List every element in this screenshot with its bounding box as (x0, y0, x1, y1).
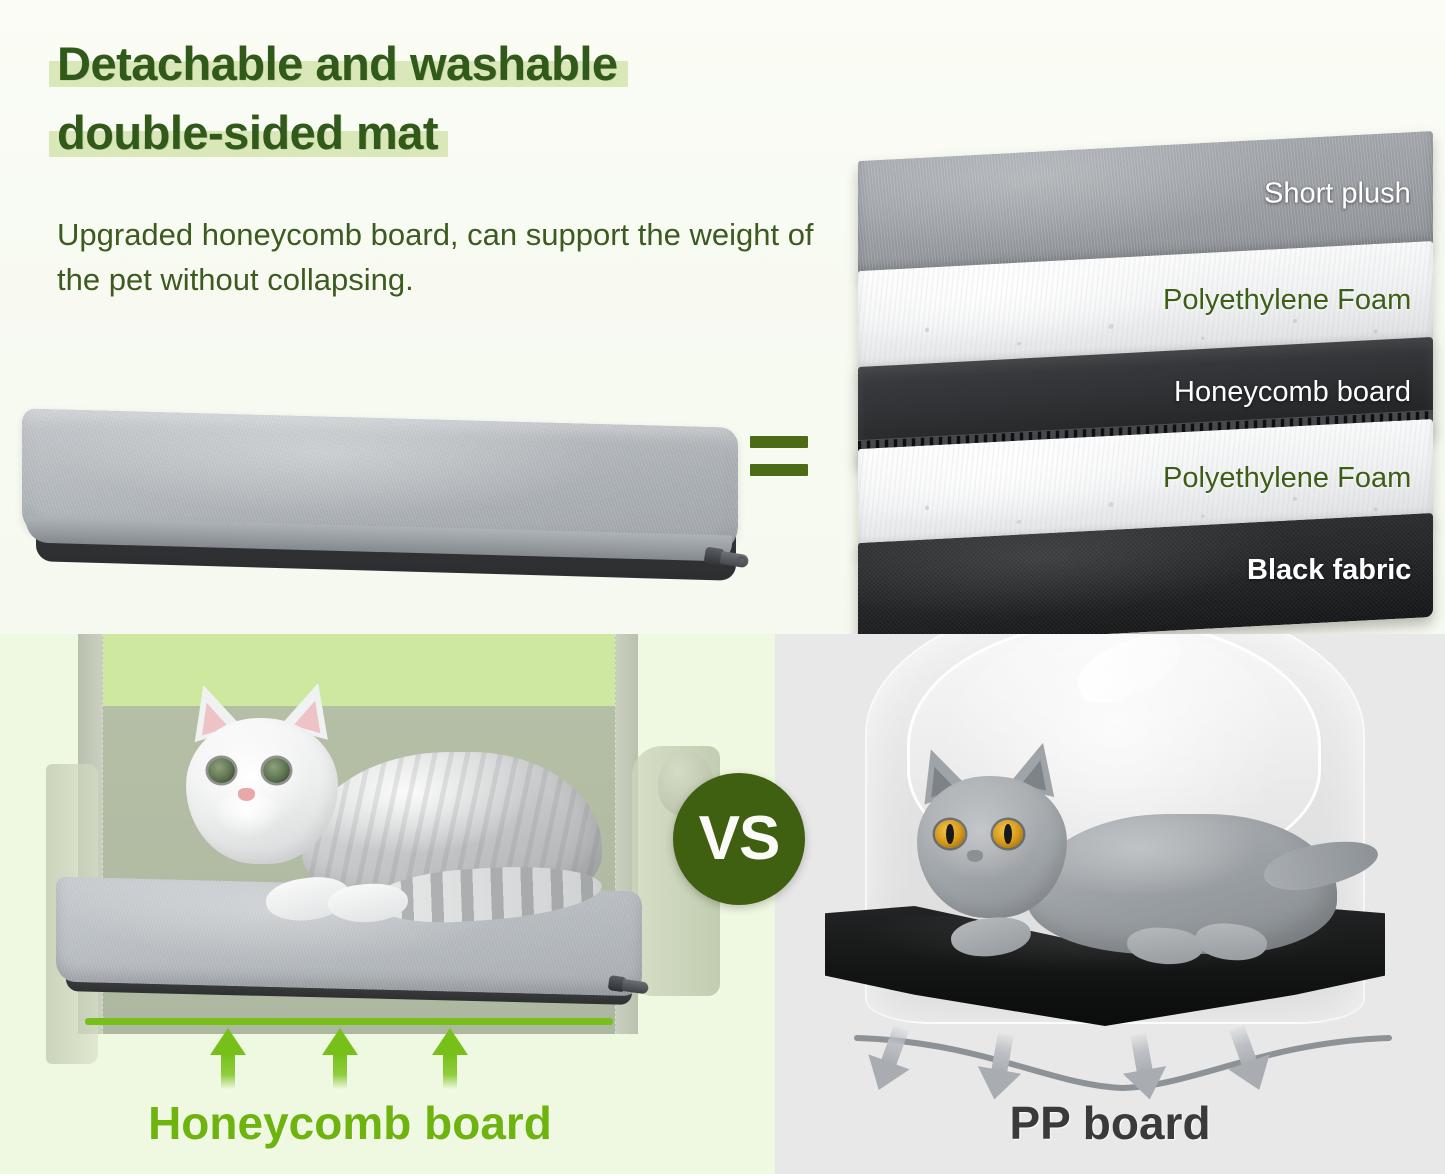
title-line-1: Detachable and washable (57, 36, 618, 91)
heading-block: Detachable and washable double-sided mat (57, 36, 857, 167)
title-text-2: double-sided mat (57, 106, 438, 159)
up-arrow-icon-2 (322, 1028, 358, 1088)
up-arrow-icon-1 (210, 1028, 246, 1088)
top-section: Detachable and washable double-sided mat… (0, 0, 1445, 634)
cat-nose (967, 850, 983, 862)
cat-nose (238, 788, 255, 801)
cat-head (917, 776, 1067, 918)
arrow-head (210, 1028, 246, 1055)
layer-label-foam-top: Polyethylene Foam (1163, 284, 1411, 317)
cat-eye-right (263, 758, 290, 783)
gray-shorthair-cat (895, 742, 1335, 992)
cat-pupil (946, 824, 954, 844)
layer-label-short-plush: Short plush (1264, 177, 1411, 210)
silver-tabby-cat (150, 682, 620, 942)
zipper-tab (622, 979, 649, 995)
label-honeycomb-board: Honeycomb board (0, 1096, 700, 1150)
up-arrow-icon-3 (432, 1028, 468, 1088)
equals-bar-bottom (750, 464, 808, 476)
cat-head (186, 718, 338, 864)
vs-badge: VS (673, 773, 805, 905)
infographic-page: Detachable and washable double-sided mat… (0, 0, 1445, 1174)
equals-bar-top (750, 436, 808, 448)
arrow-tail (443, 1053, 457, 1089)
support-line-flat (85, 1018, 613, 1025)
cat-eye-left (935, 820, 965, 848)
layer-label-black-fabric: Black fabric (1247, 554, 1411, 587)
subtitle-text: Upgraded honeycomb board, can support th… (57, 212, 817, 303)
label-pp-board: PP board (775, 1096, 1445, 1150)
vs-badge-label: VS (699, 808, 780, 870)
cat-pupil (1004, 824, 1012, 844)
layer-label-foam-bottom: Polyethylene Foam (1163, 462, 1411, 495)
comparison-panel-pp-board (775, 634, 1445, 1174)
arrow-head (432, 1028, 468, 1055)
title-text-1: Detachable and washable (57, 37, 618, 90)
layer-stack-diagram: Short plush Polyethylene Foam Honeycomb … (858, 146, 1433, 586)
title-line-2: double-sided mat (57, 105, 438, 160)
equals-sign-icon (750, 434, 810, 478)
comparison-panel-honeycomb: Honeycomb board (0, 634, 775, 1174)
arrow-tail (333, 1053, 347, 1089)
cat-eye-left (208, 758, 235, 783)
cat-paw-front-left (949, 914, 1033, 960)
product-mat-photo (14, 408, 754, 593)
layer-label-honeycomb: Honeycomb board (1174, 376, 1411, 409)
arrow-head (322, 1028, 358, 1055)
cat-eye-right (993, 820, 1023, 848)
comparison-section: Honeycomb board (0, 634, 1445, 1174)
arrow-tail (221, 1053, 235, 1089)
